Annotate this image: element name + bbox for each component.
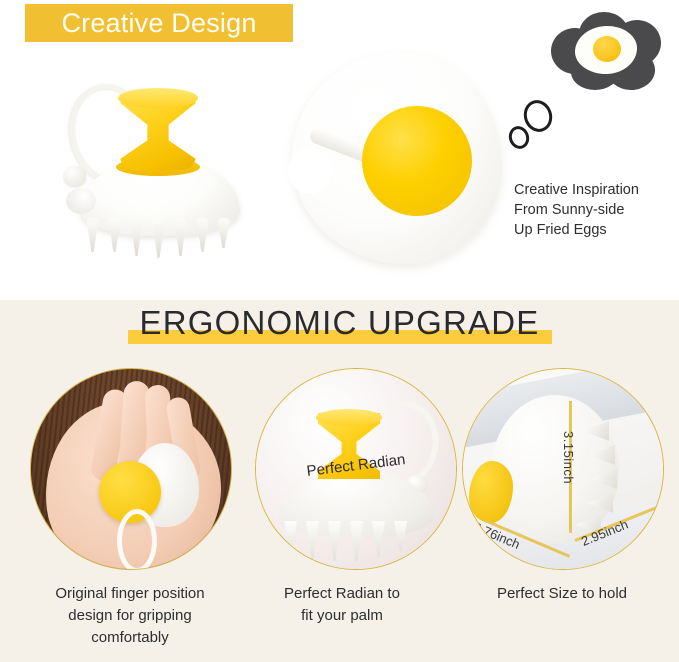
feature-image-perfect-radian: Perfect Radian xyxy=(255,368,457,570)
feature-caption-finger-position: Original finger position design for grip… xyxy=(16,583,244,649)
caption-line: fit your palm xyxy=(228,605,456,627)
product-egg-notch xyxy=(288,148,332,194)
product-yolk-handle xyxy=(362,106,472,216)
section-heading-title: ERGONOMIC UPGRADE xyxy=(0,302,679,344)
creative-design-badge-label: Creative Design xyxy=(61,10,256,37)
product-bristle xyxy=(108,218,121,252)
product-bristle xyxy=(174,218,187,256)
inspiration-line-2: From Sunny-side xyxy=(514,200,679,220)
caption-line: Perfect Radian to xyxy=(228,583,456,605)
product-bristle xyxy=(152,218,165,258)
infographic-root: Creative Design Creative xyxy=(0,0,679,662)
fried-egg-pan-icon xyxy=(545,10,667,90)
inspiration-line-1: Creative Inspiration xyxy=(514,180,679,200)
product-side-view-image xyxy=(52,70,262,260)
product-strap-in-hand xyxy=(117,509,157,570)
product-handle-cap xyxy=(118,88,198,108)
pan-egg-yolk xyxy=(593,36,621,62)
product-strap-bead xyxy=(64,166,86,186)
product-bristle xyxy=(130,218,143,256)
feature-caption-perfect-radian: Perfect Radian to fit your palm xyxy=(228,583,456,627)
product-bristle xyxy=(217,218,230,248)
feature-caption-perfect-size: Perfect Size to hold xyxy=(448,583,676,605)
product-bristle xyxy=(196,218,209,252)
caption-line: Original finger position xyxy=(16,583,244,605)
product-handle-cap-radian xyxy=(316,409,382,426)
inspiration-line-3: Up Fried Eggs xyxy=(514,220,679,240)
feature-image-finger-position xyxy=(30,368,232,570)
inspiration-text: Creative Inspiration From Sunny-side Up … xyxy=(514,180,679,240)
caption-line: Perfect Size to hold xyxy=(448,583,676,605)
creative-design-badge: Creative Design xyxy=(25,4,293,42)
section-heading-wrap: ERGONOMIC UPGRADE xyxy=(0,302,679,352)
product-top-view-image xyxy=(292,52,502,264)
dimension-label-height: 3.15inch xyxy=(561,431,576,484)
feature-image-perfect-size: 3.15inch 2.76inch 2.95inch xyxy=(462,368,664,570)
caption-line: comfortably xyxy=(16,627,244,649)
product-bristle xyxy=(86,218,99,252)
caption-line: design for gripping xyxy=(16,605,244,627)
